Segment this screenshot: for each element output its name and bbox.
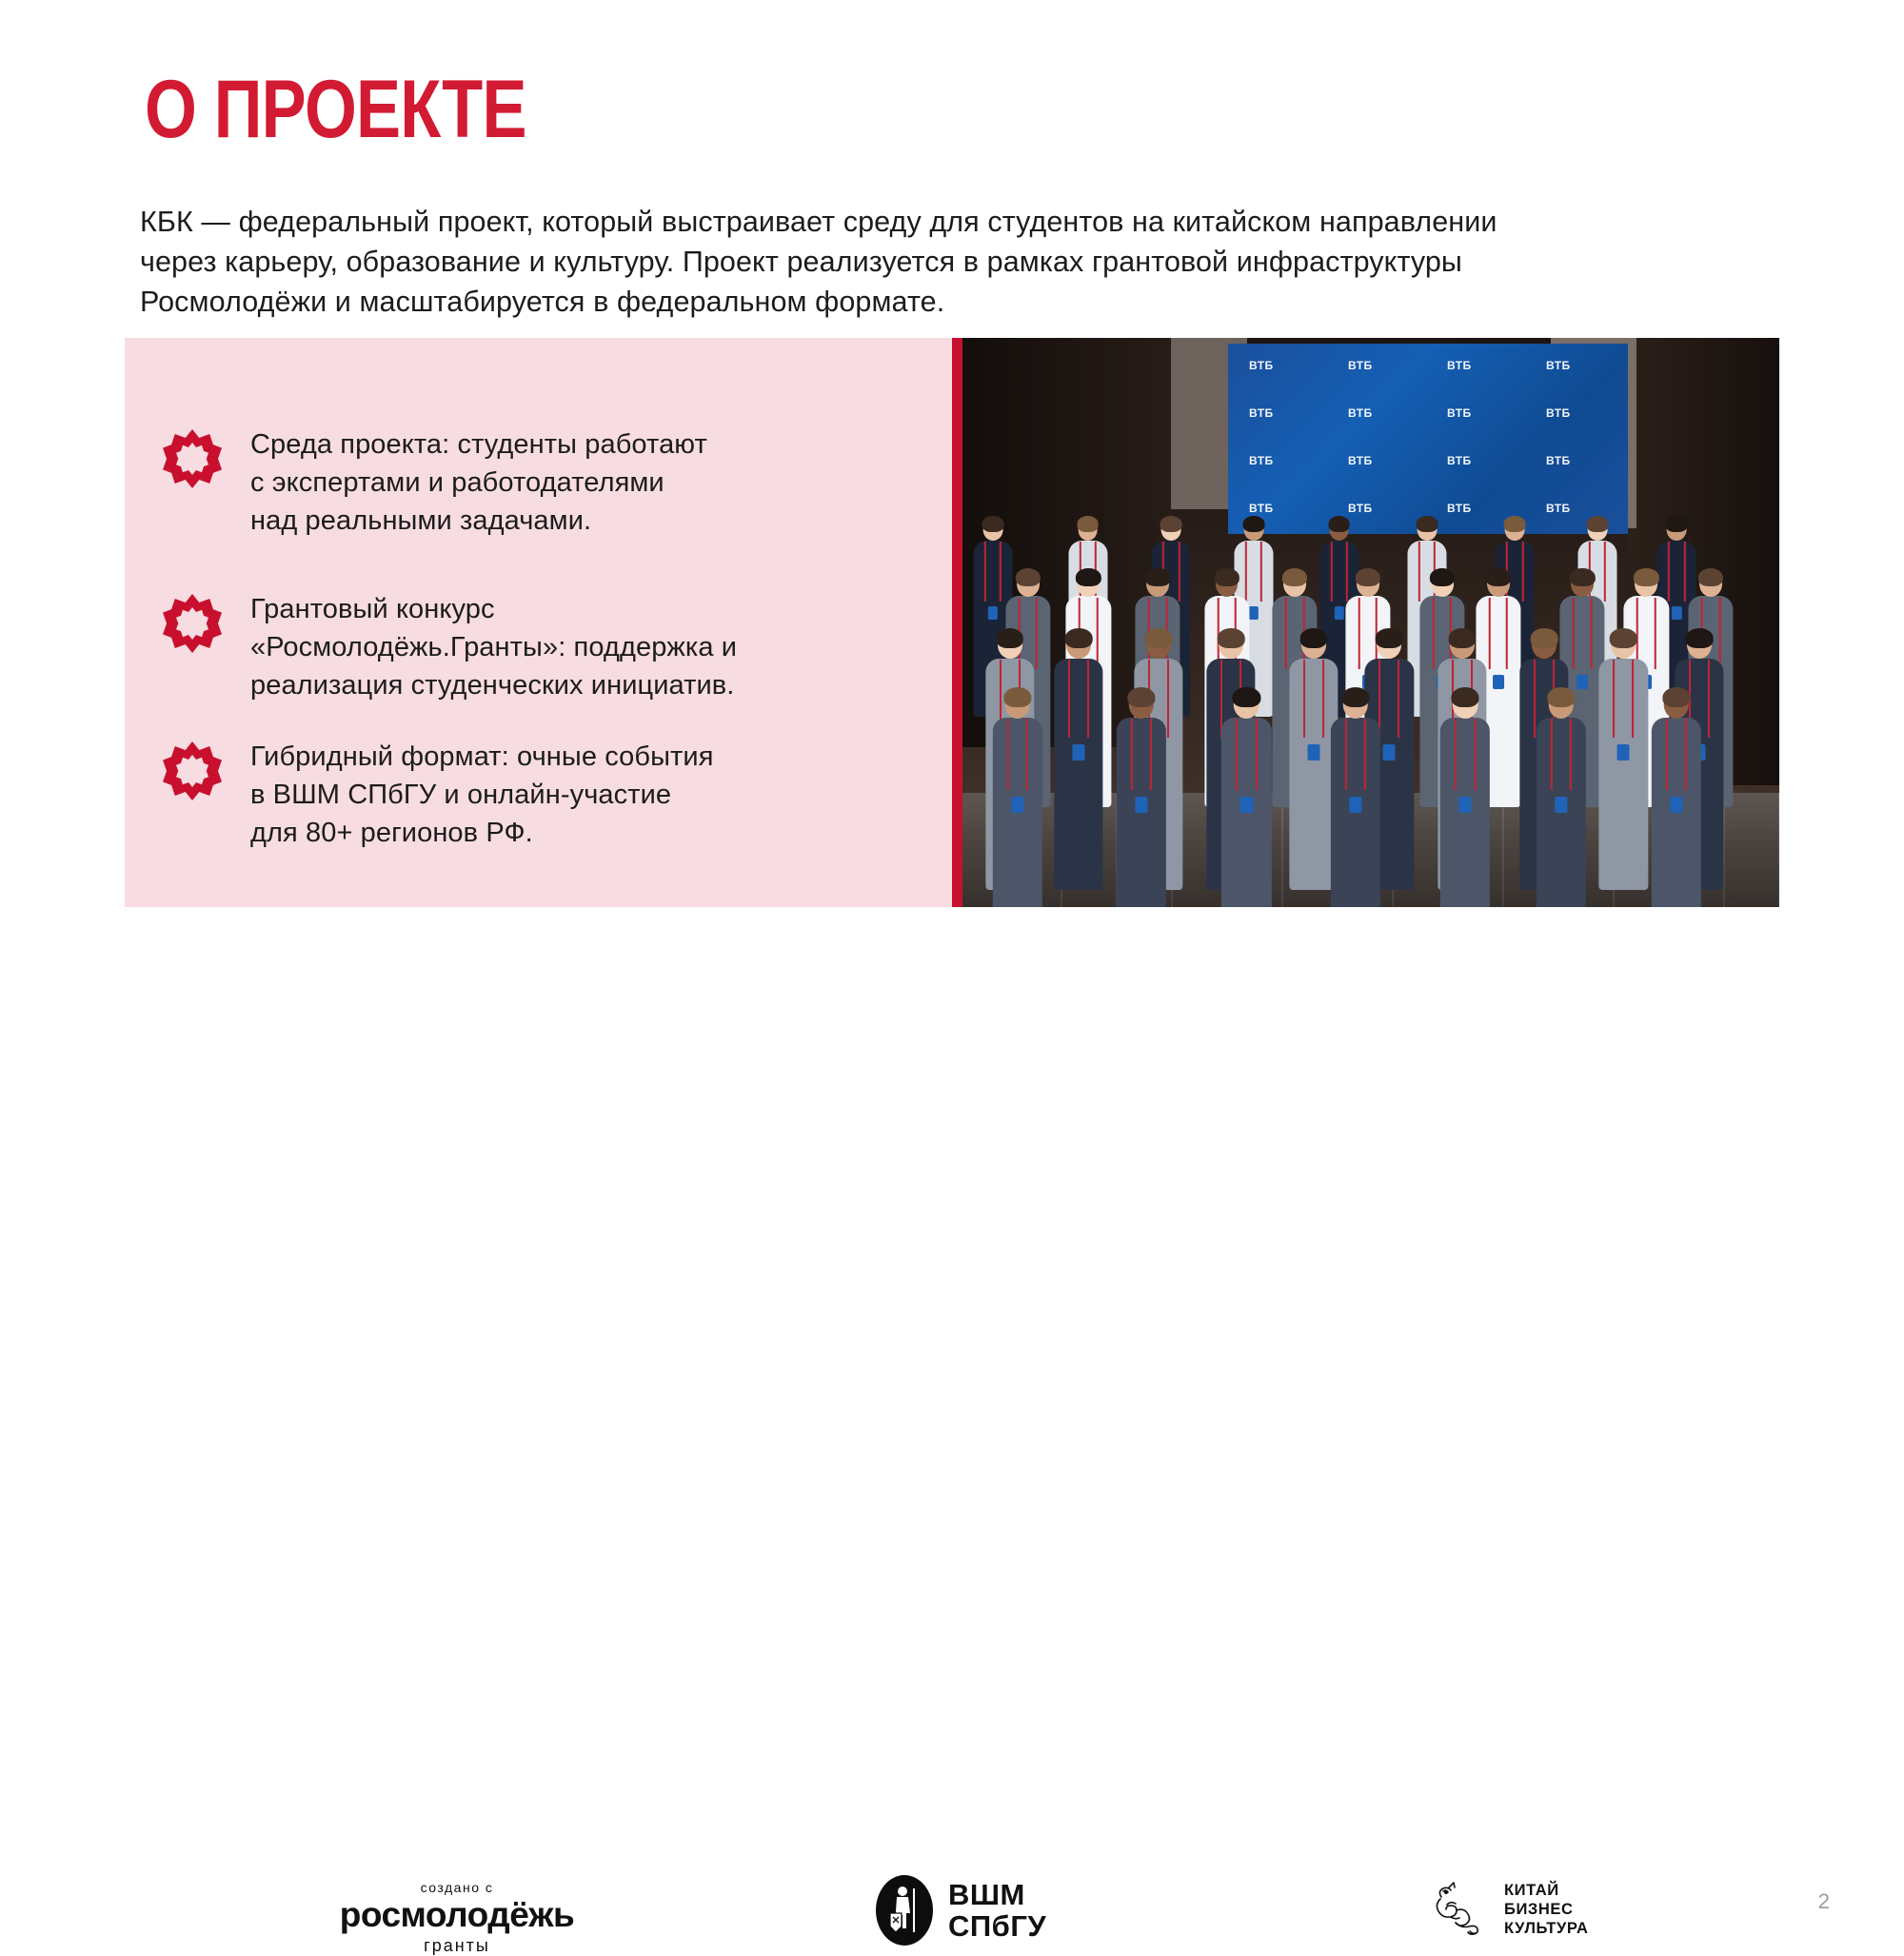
photo-person-hair — [1076, 568, 1101, 586]
photo-person-hair — [1282, 568, 1307, 586]
photo-person-lanyard — [1455, 719, 1476, 790]
photo-person-hair — [1355, 568, 1379, 586]
photo-person-hair — [1610, 628, 1637, 648]
logo-rosmolodezh: создано с росмолодёжь гранты — [314, 1880, 600, 1956]
photo-person-hair — [982, 516, 1003, 532]
logo-kbk-line2: БИЗНЕС — [1504, 1901, 1574, 1918]
dragon-icon — [1428, 1878, 1491, 1941]
photo-person-hair — [1016, 568, 1041, 586]
page-title: О ПРОЕКТЕ — [145, 69, 526, 150]
footer: создано с росмолодёжь гранты ВШМ СПбГУ — [0, 909, 1904, 1071]
photo-person-hair — [1127, 687, 1155, 707]
photo-crowd — [952, 338, 1779, 907]
photo-person-lanyard — [1668, 542, 1685, 602]
photo-person — [991, 690, 1043, 907]
photo-person-badge — [1349, 797, 1361, 813]
photo-person-hair — [1145, 628, 1173, 648]
photo-person-badge — [1240, 797, 1253, 813]
photo-person-lanyard — [1303, 660, 1324, 739]
photo-person-lanyard — [1573, 598, 1593, 669]
photo-person-hair — [1233, 687, 1260, 707]
slide: О ПРОЕКТЕ КБК — федеральный проект, кото… — [0, 0, 1904, 1071]
photo-person-hair — [1417, 516, 1438, 532]
photo-person-hair — [1448, 628, 1476, 648]
bullet-item-1: Среда проекта: студенты работают с экспе… — [163, 425, 707, 540]
photo-person-hair — [1452, 687, 1479, 707]
photo-person-hair — [1214, 568, 1239, 586]
photo-person-badge — [1459, 797, 1472, 813]
spbgu-emblem-icon — [876, 1875, 933, 1946]
photo-person-lanyard — [1068, 660, 1089, 739]
photo-person-hair — [1698, 568, 1723, 586]
photo-person-lanyard — [1488, 598, 1508, 669]
photo-person-badge — [1555, 797, 1567, 813]
photo-person-badge — [1493, 675, 1504, 690]
photo-person-hair — [1160, 516, 1182, 532]
intro-line-2: через карьеру, образование и культуру. П… — [140, 242, 1397, 282]
photo-person-lanyard — [1006, 719, 1027, 790]
logo-vshm-spbgu: ВШМ СПбГУ — [876, 1875, 1046, 1946]
photo-person-badge — [1383, 744, 1396, 761]
photo-person — [1220, 690, 1273, 907]
photo-person-hair — [1634, 568, 1658, 586]
logo-rosmolodezh-top: создано с — [314, 1880, 600, 1895]
photo-person — [1115, 690, 1167, 907]
photo-person-hair — [1686, 628, 1714, 648]
photo-person-lanyard — [1613, 660, 1634, 739]
photo-person-lanyard — [1344, 719, 1365, 790]
photo-person-hair — [1299, 628, 1327, 648]
photo-person-badge — [1072, 744, 1084, 761]
photo-person-badge — [1307, 744, 1319, 761]
bullet-item-3-text: Гибридный формат: очные события в ВШМ СП… — [250, 738, 714, 852]
photo-person-hair — [1145, 568, 1170, 586]
logo-vshm-line1: ВШМ — [948, 1878, 1025, 1911]
photo-person-hair — [1547, 687, 1575, 707]
photo-person-hair — [1065, 628, 1093, 648]
photo-person-badge — [1577, 675, 1588, 690]
photo-person — [1535, 690, 1587, 907]
logo-kitay-biznes-kultura: КИТАЙ БИЗНЕС КУЛЬТУРА — [1428, 1878, 1589, 1941]
photo-person-badge — [1334, 606, 1343, 620]
photo-person-hair — [1531, 628, 1558, 648]
photo-person-hair — [1341, 687, 1369, 707]
bullets-panel: Среда проекта: студенты работают с экспе… — [125, 338, 952, 907]
photo-person-hair — [1430, 568, 1455, 586]
photo-person-badge — [1011, 797, 1023, 813]
photo-person-hair — [1218, 628, 1245, 648]
logo-vshm-line2: СПбГУ — [948, 1909, 1046, 1943]
photo-person-hair — [1003, 687, 1031, 707]
eight-point-star-icon — [163, 594, 222, 653]
eight-point-star-icon — [163, 741, 222, 800]
intro-line-1: КБК — федеральный проект, который выстра… — [140, 202, 1397, 242]
photo-person-hair — [1666, 516, 1688, 532]
photo-person-lanyard — [1551, 719, 1572, 790]
photo-person — [1053, 631, 1104, 893]
photo-person — [1439, 690, 1492, 907]
photo-person-lanyard — [984, 542, 1002, 602]
photo-person-hair — [1077, 516, 1099, 532]
bullet-item-1-text: Среда проекта: студенты работают с экспе… — [250, 425, 707, 540]
photo-person-badge — [1617, 744, 1630, 761]
photo-person — [1597, 631, 1649, 893]
photo-person-hair — [1243, 516, 1265, 532]
photo-person — [1329, 690, 1381, 907]
photo-person-badge — [1670, 797, 1682, 813]
photo-person-hair — [1586, 516, 1608, 532]
photo-person-hair — [1486, 568, 1511, 586]
photo-person-hair — [1376, 628, 1403, 648]
logo-kbk-line3: КУЛЬТУРА — [1504, 1920, 1589, 1937]
photo-person-lanyard — [1665, 719, 1686, 790]
logo-rosmolodezh-bottom: гранты — [314, 1935, 600, 1956]
bullet-item-3: Гибридный формат: очные события в ВШМ СП… — [163, 738, 714, 852]
eight-point-star-icon — [163, 429, 222, 488]
photo-person-hair — [1662, 687, 1690, 707]
photo-person-badge — [1135, 797, 1147, 813]
photo-person-hair — [1504, 516, 1526, 532]
page-number: 2 — [1818, 1889, 1830, 1914]
photo-person-hair — [1570, 568, 1595, 586]
photo-person-hair — [1328, 516, 1350, 532]
logo-kbk-text: КИТАЙ БИЗНЕС КУЛЬТУРА — [1504, 1881, 1589, 1938]
photo-person — [1650, 690, 1702, 907]
photo-person-badge — [988, 606, 998, 620]
photo-person-lanyard — [1378, 660, 1399, 739]
intro-paragraph: КБК — федеральный проект, который выстра… — [140, 202, 1397, 322]
photo-person-badge — [1672, 606, 1681, 620]
event-group-photo: ВТБВТБВТБВТБВТБВТБВТБВТБВТБВТБВТБВТБВТБВ… — [952, 338, 1779, 907]
photo-person-lanyard — [1236, 719, 1257, 790]
logo-rosmolodezh-main: росмолодёжь — [314, 1895, 600, 1935]
photo-person-hair — [997, 628, 1024, 648]
logo-vshm-text: ВШМ СПбГУ — [948, 1879, 1046, 1942]
spbgu-figure-icon — [888, 1885, 921, 1936]
bullet-item-2: Грантовый конкурс «Росмолодёжь.Гранты»: … — [163, 590, 737, 704]
photo-accent-stripe — [952, 338, 962, 907]
intro-line-3: Росмолодёжи и масштабируется в федеральн… — [140, 282, 1397, 322]
bullet-item-2-text: Грантовый конкурс «Росмолодёжь.Гранты»: … — [250, 590, 737, 704]
photo-person-lanyard — [1130, 719, 1151, 790]
logo-kbk-line1: КИТАЙ — [1504, 1882, 1559, 1899]
